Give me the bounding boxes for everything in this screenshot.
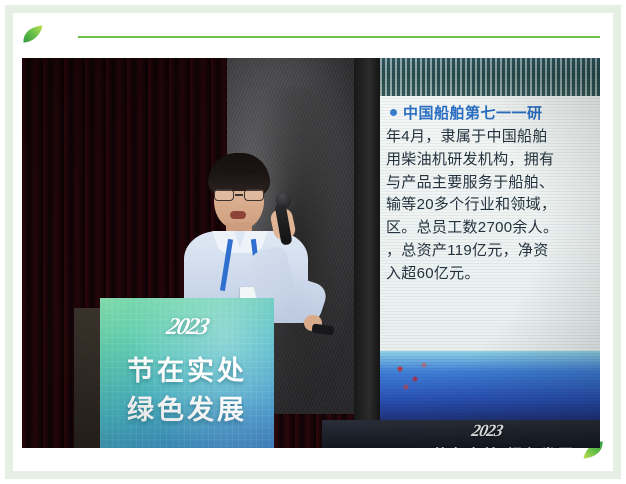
- slide-image-detail: [388, 357, 448, 397]
- podium-front-banner: 2023 节在实处 绿色发展 杭州市节能降碳创新研讨会 暨节能新技术新装备推介会: [100, 298, 274, 448]
- banner-slogan: 节在实处·绿色发展: [432, 442, 574, 448]
- microphone-icon: [276, 191, 291, 208]
- glasses-lens-left: [214, 189, 234, 201]
- podium-year-logo: 2023: [100, 314, 274, 341]
- bullet-dot-icon: [390, 109, 397, 116]
- podium-side-panel: [74, 308, 100, 448]
- slide-line: 与产品主要服务于船舶、: [386, 172, 600, 195]
- podium-title: 节在实处 绿色发展: [100, 352, 274, 430]
- slide-top-image: [380, 58, 600, 96]
- slide-line: 入超60亿元。: [386, 263, 600, 286]
- slide-line: 用柴油机研发机构，拥有: [386, 149, 600, 172]
- wall-screen-divider: [354, 58, 382, 420]
- event-photo: 中国船舶第七一一研 年4月，隶属于中国船舶 用柴油机研发机构，拥有 与产品主要服…: [22, 58, 600, 448]
- slide-line: 年4月，隶属于中国船舶: [386, 126, 600, 149]
- slide-line: 输等20多个行业和领域，: [386, 194, 600, 217]
- slide-text-body: 中国船舶第七一一研 年4月，隶属于中国船舶 用柴油机研发机构，拥有 与产品主要服…: [380, 96, 600, 351]
- stage-skirt-banner: 2023 节在实处·绿色发展: [322, 420, 600, 448]
- speaker-mouth: [230, 211, 246, 219]
- slide-bottom-image: [380, 351, 600, 420]
- projection-screen: 中国船舶第七一一研 年4月，隶属于中国船舶 用柴油机研发机构，拥有 与产品主要服…: [380, 58, 600, 420]
- podium-title-line-2: 绿色发展: [100, 391, 274, 430]
- accent-rule-top: [78, 36, 600, 38]
- glasses-lens-right: [244, 189, 264, 201]
- slide-bullet-header: 中国船舶第七一一研: [386, 102, 600, 123]
- slide-line: ，总资产119亿元，净资: [386, 240, 600, 263]
- glasses-bridge: [235, 194, 243, 196]
- page-root: 中国船舶第七一一研 年4月，隶属于中国船舶 用柴油机研发机构，拥有 与产品主要服…: [0, 0, 626, 484]
- podium-title-line-1: 节在实处: [100, 352, 274, 391]
- speaker-fringe: [209, 169, 269, 191]
- leaf-icon: [22, 24, 44, 44]
- glasses-icon: [213, 189, 265, 201]
- podium: 2023 节在实处 绿色发展 杭州市节能降碳创新研讨会 暨节能新技术新装备推介会: [74, 298, 274, 448]
- banner-year-logo: 2023: [470, 421, 504, 441]
- slide-line: 区。总员工数2700余人。: [386, 217, 600, 240]
- slide-header-text: 中国船舶第七一一研: [403, 102, 543, 123]
